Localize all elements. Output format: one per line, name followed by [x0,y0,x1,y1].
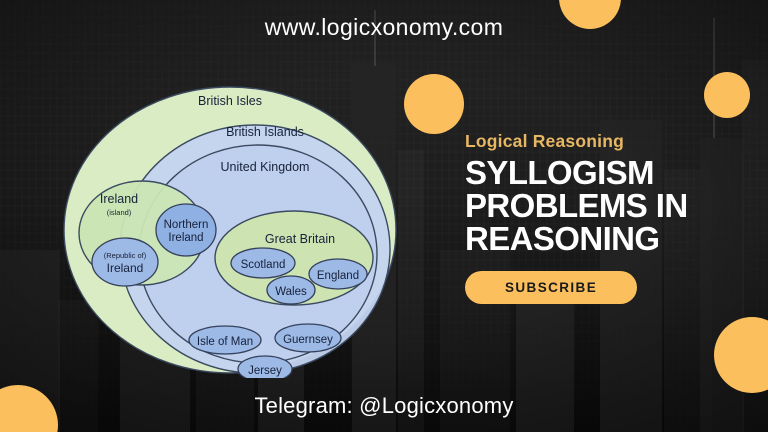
label-ireland-island: Ireland [100,192,138,206]
label-ireland: Ireland [107,261,144,275]
promo-panel: Logical Reasoning SYLLOGISM PROBLEMS IN … [465,132,761,304]
title-line-2: PROBLEMS IN [465,190,761,223]
label-jersey: Jersey [248,365,282,377]
label-northern-ireland-line1: Northern [164,219,209,231]
orange-dot-right-low [714,317,768,393]
telegram-handle: Telegram: @Logicxonomy [0,393,768,419]
label-england: England [317,270,359,282]
label-wales: Wales [275,286,307,298]
orange-dot-upper-left [404,74,464,134]
label-guernsey: Guernsey [283,334,333,346]
label-isle-of-man: Isle of Man [197,336,253,348]
subscribe-button[interactable]: SUBSCRIBE [465,271,637,304]
promo-kicker: Logical Reasoning [465,132,761,151]
site-url: www.logicxonomy.com [0,14,768,41]
orange-dot-upper-right [704,72,750,118]
title-line-3: REASONING [465,223,761,256]
british-isles-venn-diagram: British Isles British Islands United Kin… [62,78,402,378]
label-northern-ireland-line2: Ireland [168,232,203,244]
label-british-isles: British Isles [198,94,262,108]
label-scotland: Scotland [241,259,286,271]
label-ireland-island-sub: (island) [107,208,132,217]
label-great-britain: Great Britain [265,232,335,246]
page-title: SYLLOGISM PROBLEMS IN REASONING [465,157,761,255]
label-republic-of: (Republic of) [104,251,147,260]
title-line-1: SYLLOGISM [465,157,761,190]
label-united-kingdom: United Kingdom [221,160,310,174]
poster-canvas: www.logicxonomy.com [0,0,768,432]
label-british-islands: British Islands [226,125,304,139]
